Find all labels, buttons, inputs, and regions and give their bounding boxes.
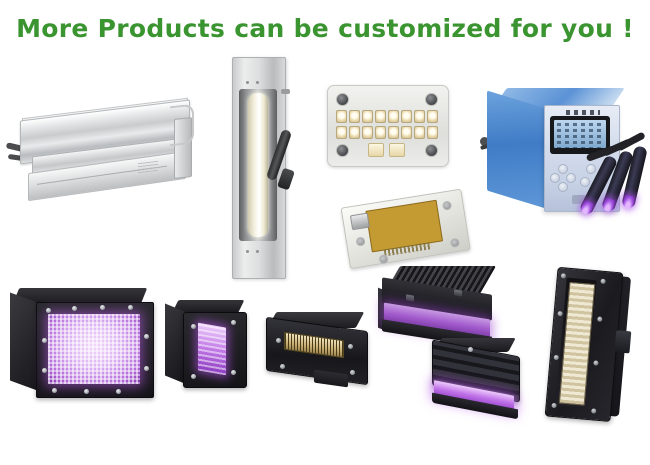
bezel-bolt	[191, 374, 196, 379]
led-emitter	[388, 110, 399, 123]
cable-connector	[614, 330, 631, 353]
uv-emission-window	[198, 323, 226, 376]
led-emitter	[388, 126, 399, 139]
screw	[256, 250, 259, 253]
bezel-bolt	[42, 338, 47, 343]
led-emitter	[336, 110, 347, 123]
bezel-bolt	[348, 344, 353, 349]
key-up	[558, 164, 568, 174]
bezel-bolt	[231, 320, 236, 325]
mounting-bracket	[406, 294, 414, 301]
mounting-hole	[425, 144, 438, 157]
lcd-text-line	[557, 147, 603, 148]
uv-led-array-glow	[48, 314, 140, 384]
led-row-top	[336, 110, 438, 122]
key-down	[558, 182, 568, 192]
bezel-bolt	[116, 389, 121, 394]
wire-connector	[350, 213, 370, 231]
product-image-vertical-uv-tube-lamp	[224, 57, 294, 277]
product-banner: More Products can be customized for you …	[0, 0, 650, 465]
carry-handle	[170, 104, 194, 147]
bezel-bolt	[42, 368, 47, 373]
indicator-row	[566, 110, 600, 115]
led-emitter	[349, 110, 360, 123]
bezel-bolt	[128, 305, 133, 310]
product-image-vertical-uv-led-bar-lamp	[539, 266, 644, 423]
lcd-text-line	[557, 123, 603, 126]
bezel-bolt	[46, 308, 51, 313]
led-emitter	[362, 110, 373, 123]
bezel-bolt	[144, 366, 149, 371]
led-row-bottom	[336, 126, 438, 138]
bezel-bolt	[280, 364, 285, 369]
bezel-bolt	[84, 389, 89, 394]
led-emitter	[414, 110, 425, 123]
bezel-bolt	[276, 338, 281, 343]
led-emitter	[401, 126, 412, 139]
mounting-hole	[336, 144, 349, 157]
led-emitter	[375, 110, 386, 123]
bezel-bolt	[100, 305, 105, 310]
led-emitter	[427, 126, 438, 139]
screw	[468, 347, 473, 352]
led-chip	[389, 143, 405, 157]
product-image-ribbed-uv-led-curing-unit	[428, 338, 526, 424]
lcd-screen	[554, 120, 606, 148]
bezel-bolt	[231, 370, 236, 375]
led-emitter	[401, 110, 412, 123]
key-aux-2	[580, 177, 590, 187]
led-chip	[368, 143, 384, 157]
product-image-uv-led-strip-module	[262, 312, 372, 392]
product-image-uv-led-module-board	[327, 85, 447, 165]
vent-grille	[138, 159, 158, 173]
product-image-uv-led-area-curing-lamp	[10, 288, 158, 398]
bezel-bolt	[191, 324, 196, 329]
mount-nub	[281, 89, 290, 94]
lcd-text-line	[557, 129, 603, 132]
uv-tube	[248, 93, 268, 237]
mounting-hole	[336, 93, 349, 106]
led-emitter	[336, 126, 347, 139]
enclosure-side	[487, 91, 549, 210]
screw	[256, 81, 259, 84]
screw	[246, 81, 249, 84]
mounting-bracket	[454, 289, 462, 296]
led-emitter	[362, 126, 373, 139]
product-image-aluminium-reflector-lamp-housing	[6, 100, 196, 200]
product-image-gold-cob-led-module	[341, 189, 470, 273]
key-aux-1	[586, 164, 596, 174]
bezel-bolt	[350, 370, 355, 375]
product-image-compact-uv-led-curing-lamp	[165, 300, 251, 388]
lcd-text-line	[557, 135, 603, 138]
product-image-uv-spot-curing-controller	[480, 88, 650, 228]
led-emitter	[427, 110, 438, 123]
key-left	[550, 173, 560, 183]
bezel-bolt	[72, 306, 77, 311]
lcd-text-line	[557, 141, 603, 144]
key-right	[566, 173, 576, 183]
led-emitter	[375, 126, 386, 139]
led-emitter	[349, 126, 360, 139]
led-emitter	[414, 126, 425, 139]
screw	[246, 250, 249, 253]
page-title: More Products can be customized for you …	[0, 14, 650, 43]
mounting-hole	[425, 93, 438, 106]
bezel-bolt	[144, 334, 149, 339]
bezel-bolt	[52, 388, 57, 393]
